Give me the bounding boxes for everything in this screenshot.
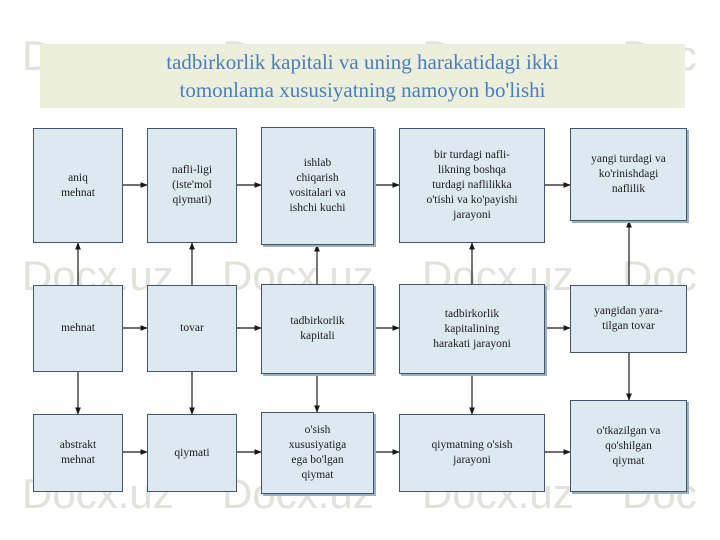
flowchart-node-label: mehnat — [61, 321, 95, 336]
flowchart-node-r2c5[interactable]: yangidan yara-tilgan tovar — [570, 285, 687, 353]
flowchart-node-r3c4[interactable]: qiymatning o'sishjarayoni — [399, 414, 545, 492]
flowchart-node-r3c2[interactable]: qiymati — [147, 414, 237, 492]
flowchart-node-r1c4[interactable]: bir turdagi nafli-likning boshqaturdagi … — [399, 128, 545, 243]
flowchart-node-r3c5[interactable]: o'tkazilgan vaqo'shilganqiymat — [570, 400, 687, 492]
flowchart-node-r2c4[interactable]: tadbirkorlikkapitaliningharakati jarayon… — [399, 284, 545, 374]
page-title: tadbirkorlik kapitali va uning harakatid… — [40, 42, 685, 110]
flowchart-node-r1c3[interactable]: ishlabchiqarishvositalari vaishchi kuchi — [261, 127, 374, 245]
flowchart-node-r2c1[interactable]: mehnat — [33, 285, 123, 372]
flowchart-node-label: o'tkazilgan vaqo'shilganqiymat — [597, 424, 661, 469]
flowchart-node-r3c3[interactable]: o'sishxususiyatigaega bo'lganqiymat — [261, 412, 374, 494]
flowchart-node-r2c2[interactable]: tovar — [147, 285, 237, 372]
flowchart-node-r3c1[interactable]: abstraktmehnat — [33, 414, 123, 492]
flowchart-node-label: qiymati — [174, 446, 209, 461]
flowchart-node-r2c3[interactable]: tadbirkorlikkapitali — [261, 284, 374, 374]
flowchart-node-label: nafli-ligi(iste'molqiymati) — [172, 163, 212, 208]
flowchart-node-label: o'sishxususiyatigaega bo'lganqiymat — [289, 423, 347, 483]
page-title-line-1: tadbirkorlik kapitali va uning harakatid… — [166, 48, 558, 76]
flowchart-node-label: tadbirkorlikkapitaliningharakati jarayon… — [433, 307, 511, 352]
flowchart-node-label: aniqmehnat — [61, 171, 95, 201]
flowchart-node-label: qiymatning o'sishjarayoni — [432, 438, 513, 468]
flowchart-node-r1c5[interactable]: yangi turdagi vako'rinishdaginaflilik — [570, 128, 687, 221]
flowchart-node-label: yangidan yara-tilgan tovar — [594, 304, 663, 334]
flowchart-node-label: tadbirkorlikkapitali — [290, 314, 344, 344]
flowchart-node-label: ishlabchiqarishvositalari vaishchi kuchi — [289, 156, 346, 216]
slide-canvas: Docx.uzDocx.uzDocx.uzDocDocx.uzDocx.uzDo… — [0, 0, 720, 540]
flowchart-node-r1c1[interactable]: aniqmehnat — [33, 128, 123, 243]
flowchart-node-label: tovar — [180, 321, 204, 336]
flowchart-node-label: yangi turdagi vako'rinishdaginaflilik — [591, 152, 666, 197]
flowchart-node-r1c2[interactable]: nafli-ligi(iste'molqiymati) — [147, 128, 237, 243]
page-title-line-2: tomonlama xususiyatning namoyon bo'lishi — [179, 76, 545, 104]
flowchart-node-label: abstraktmehnat — [60, 438, 96, 468]
flowchart-node-label: bir turdagi nafli-likning boshqaturdagi … — [426, 148, 517, 223]
